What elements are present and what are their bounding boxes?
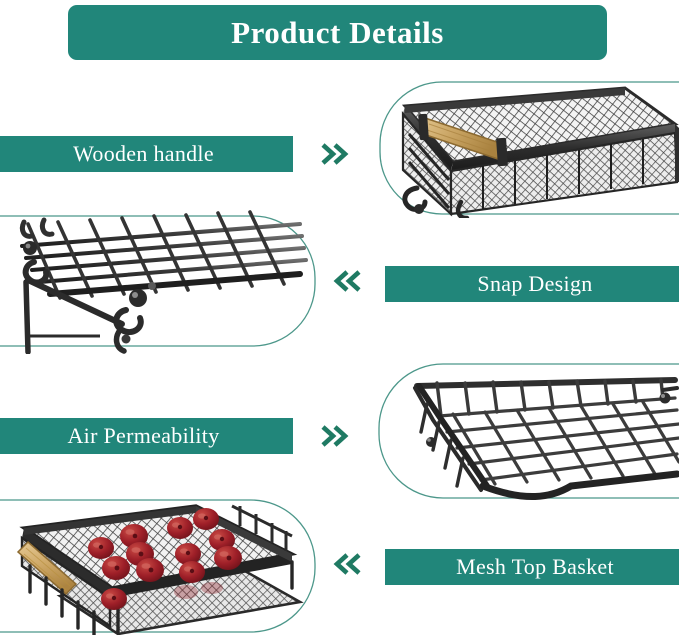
page-title: Product Details bbox=[231, 15, 444, 51]
feature-label-mesh-top-basket: Mesh Top Basket bbox=[385, 549, 679, 585]
chevron-double-left-icon bbox=[331, 264, 365, 298]
feature-label-snap-design: Snap Design bbox=[385, 266, 679, 302]
feature-label-text: Mesh Top Basket bbox=[456, 554, 614, 580]
page-title-banner: Product Details bbox=[68, 5, 607, 60]
feature-image-mesh-top-basket bbox=[0, 492, 330, 635]
chevron-double-left-icon bbox=[331, 547, 365, 581]
infographic-canvas: Product Details Wooden handle bbox=[0, 0, 679, 635]
feature-label-text: Wooden handle bbox=[73, 141, 214, 167]
feature-image-air-permeability bbox=[375, 358, 679, 504]
feature-label-air-permeability: Air Permeability bbox=[0, 418, 293, 454]
feature-label-wooden-handle: Wooden handle bbox=[0, 136, 293, 172]
feature-image-snap-design bbox=[0, 206, 320, 354]
feature-label-text: Air Permeability bbox=[67, 423, 219, 449]
chevron-double-right-icon bbox=[317, 137, 351, 171]
feature-label-text: Snap Design bbox=[477, 271, 592, 297]
feature-image-wooden-handle bbox=[375, 78, 679, 218]
chevron-double-right-icon bbox=[317, 419, 351, 453]
